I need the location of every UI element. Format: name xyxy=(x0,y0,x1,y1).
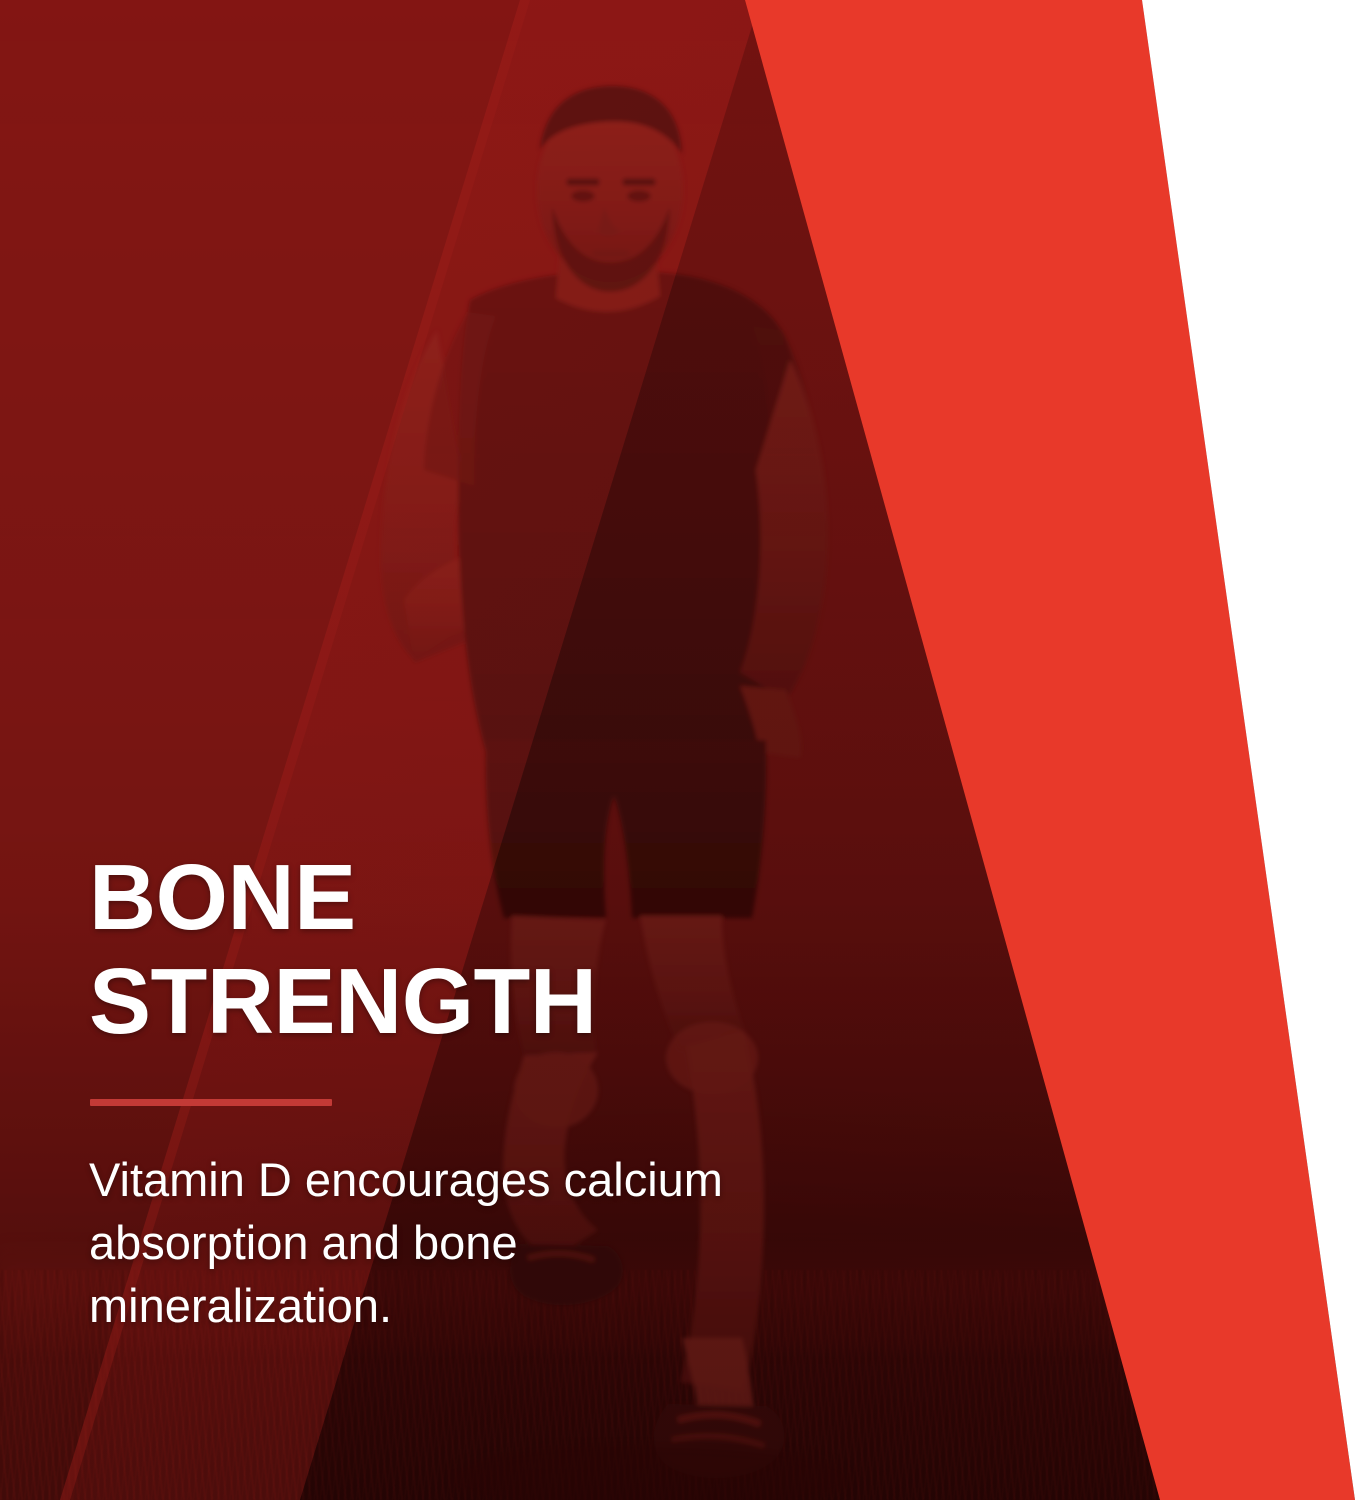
headline-line-1: BONE xyxy=(89,845,809,949)
benefit-banner: BONE STRENGTH Vitamin D encourages calci… xyxy=(0,0,1361,1500)
accent-divider xyxy=(90,1099,332,1106)
body-copy: Vitamin D encourages calcium absorption … xyxy=(89,1148,729,1337)
headline-line-2: STRENGTH xyxy=(89,949,809,1053)
copy-block: BONE STRENGTH Vitamin D encourages calci… xyxy=(89,845,809,1337)
page-title: BONE STRENGTH xyxy=(89,845,809,1053)
